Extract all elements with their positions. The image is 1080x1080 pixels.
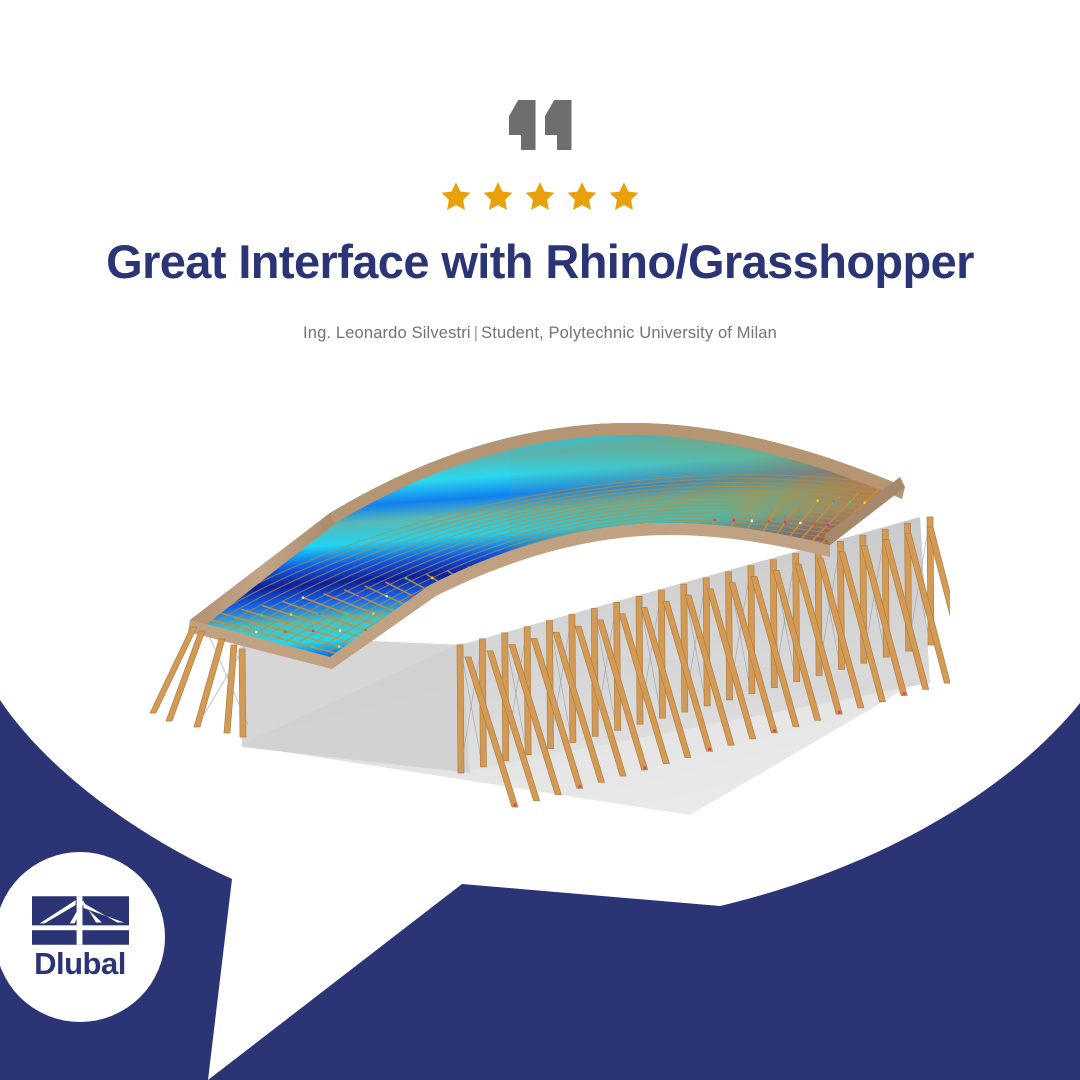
star-rating: [0, 176, 1080, 216]
star-icon-5: [608, 180, 640, 212]
quote-block-left: [509, 100, 536, 150]
left-wall: [240, 635, 470, 773]
author-name: Ing. Leonardo Silvestri: [303, 324, 471, 342]
quote-title: Great Interface with Rhino/Grasshopper: [60, 235, 1020, 289]
dlubal-logo[interactable]: Dlubal: [0, 852, 165, 1022]
star-icon-1: [440, 180, 472, 212]
dlubal-bridge-icon: [32, 896, 129, 945]
timber-roof-fea-model: [130, 395, 950, 845]
double-quote-icon: [0, 100, 1080, 160]
star-icon-2: [482, 180, 514, 212]
dlubal-wordmark: Dlubal: [34, 948, 126, 979]
quote-attribution: Ing. Leonardo Silvestri|Student, Polytec…: [60, 324, 1020, 343]
quote-block-right: [545, 100, 572, 150]
testimonial-card: Great Interface with Rhino/Grasshopper I…: [0, 0, 1080, 1080]
star-icon-4: [566, 180, 598, 212]
attribution-separator: |: [471, 324, 481, 342]
star-icon-3: [524, 180, 556, 212]
author-role: Student, Polytechnic University of Milan: [481, 324, 777, 342]
